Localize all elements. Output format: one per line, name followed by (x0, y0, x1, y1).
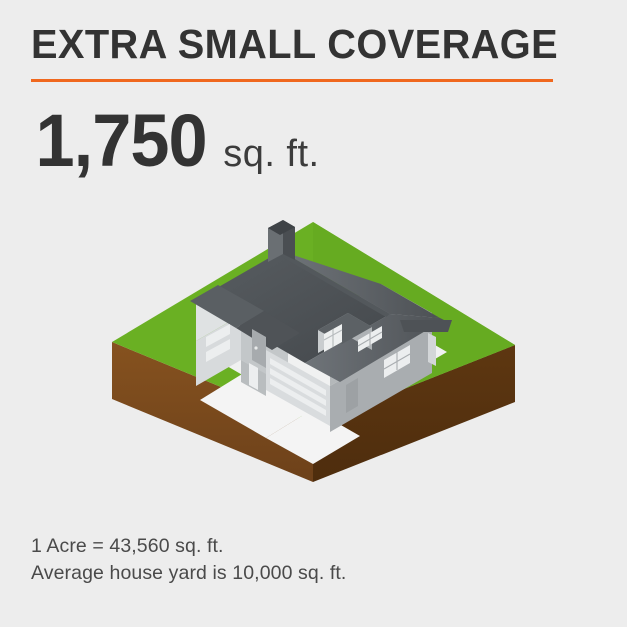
footnote-acre: 1 Acre = 43,560 sq. ft. (31, 533, 346, 560)
footnotes: 1 Acre = 43,560 sq. ft. Average house ya… (31, 533, 346, 587)
page-title: EXTRA SMALL COVERAGE (31, 20, 537, 68)
coverage-card: EXTRA SMALL COVERAGE 1,750 sq. ft. (0, 0, 627, 627)
coverage-value: 1,750 (36, 104, 207, 178)
house-illustration (0, 200, 627, 510)
downspout (428, 333, 436, 366)
accent-divider (31, 79, 553, 82)
header: EXTRA SMALL COVERAGE (31, 20, 553, 82)
coverage-figure: 1,750 sq. ft. (31, 104, 320, 178)
coverage-unit: sq. ft. (223, 135, 319, 173)
footnote-yard: Average house yard is 10,000 sq. ft. (31, 560, 346, 587)
roof-eave-right (400, 320, 452, 332)
